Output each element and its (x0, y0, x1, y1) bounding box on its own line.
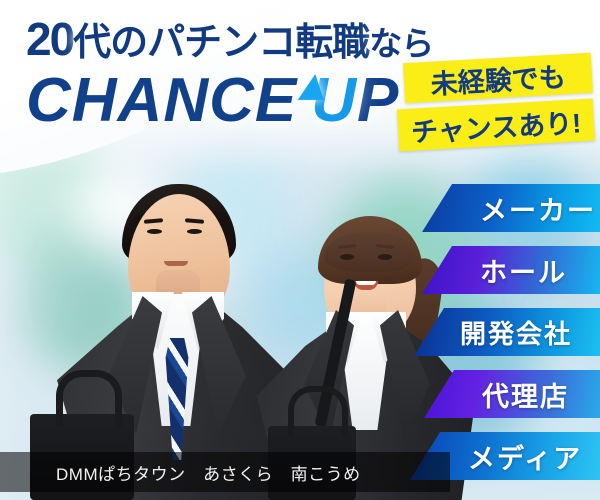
woman-eye-right (378, 254, 392, 260)
promo-banner: 20代のパチンコ転職なら CHANCEUP 未経験でも チャンスあり! メーカー… (0, 0, 600, 500)
headline-number: 20 (26, 13, 73, 65)
category-button-developer[interactable]: 開発会社 (414, 308, 600, 356)
caption-bar: DMMぱちタウン あさくら 南こうめ (0, 452, 450, 492)
category-button-hall[interactable]: ホール (422, 246, 600, 294)
page-title: 20代のパチンコ転職なら (26, 16, 433, 62)
logo-letter-p: P (357, 66, 399, 135)
logo-word-chance: CHANCE (26, 66, 297, 135)
category-button-maker[interactable]: メーカー (422, 184, 600, 232)
man-mouth (164, 261, 188, 266)
man-eye-right (187, 229, 202, 234)
headline-middle: 代のパチンコ転職 (73, 22, 369, 64)
up-arrow-icon (298, 74, 329, 100)
woman-bangs (324, 232, 416, 272)
man-eye-left (147, 229, 162, 234)
brand-logo: CHANCEUP (26, 70, 399, 132)
category-button-agency[interactable]: 代理店 (424, 370, 600, 418)
woman-eye-left (340, 254, 354, 260)
headline-tail: なら (369, 25, 433, 62)
